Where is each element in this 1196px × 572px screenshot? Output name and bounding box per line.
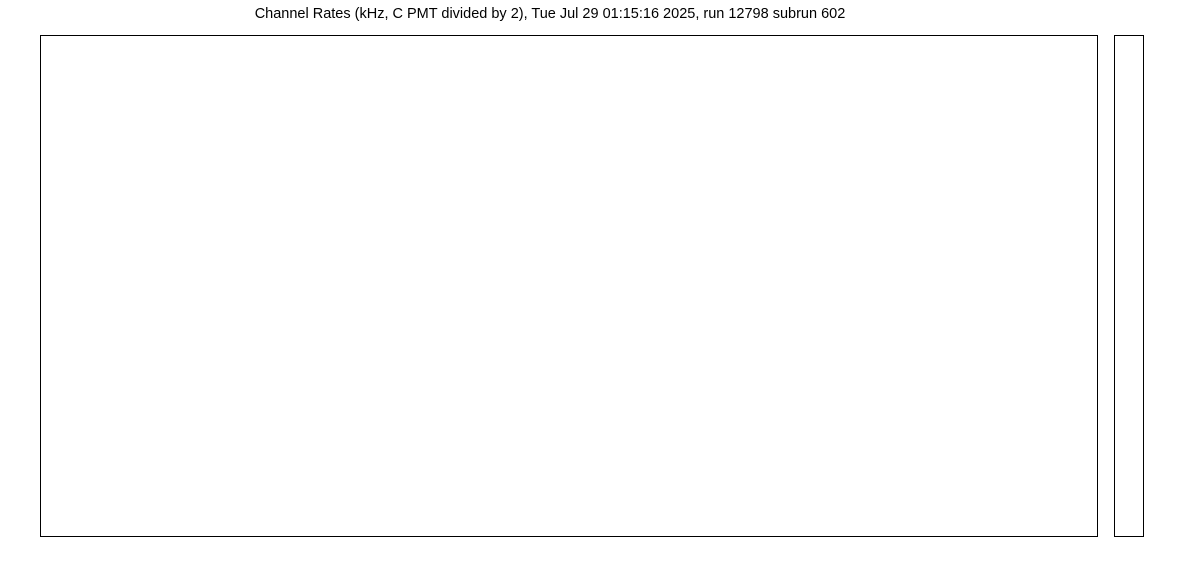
heatmap-cells <box>40 35 1098 537</box>
colorbar <box>1114 35 1144 537</box>
channel-rates-plot: Channel Rates (kHz, C PMT divided by 2),… <box>0 0 1196 572</box>
page-title: Channel Rates (kHz, C PMT divided by 2),… <box>0 6 1100 22</box>
heatmap-plot-area <box>40 35 1098 537</box>
